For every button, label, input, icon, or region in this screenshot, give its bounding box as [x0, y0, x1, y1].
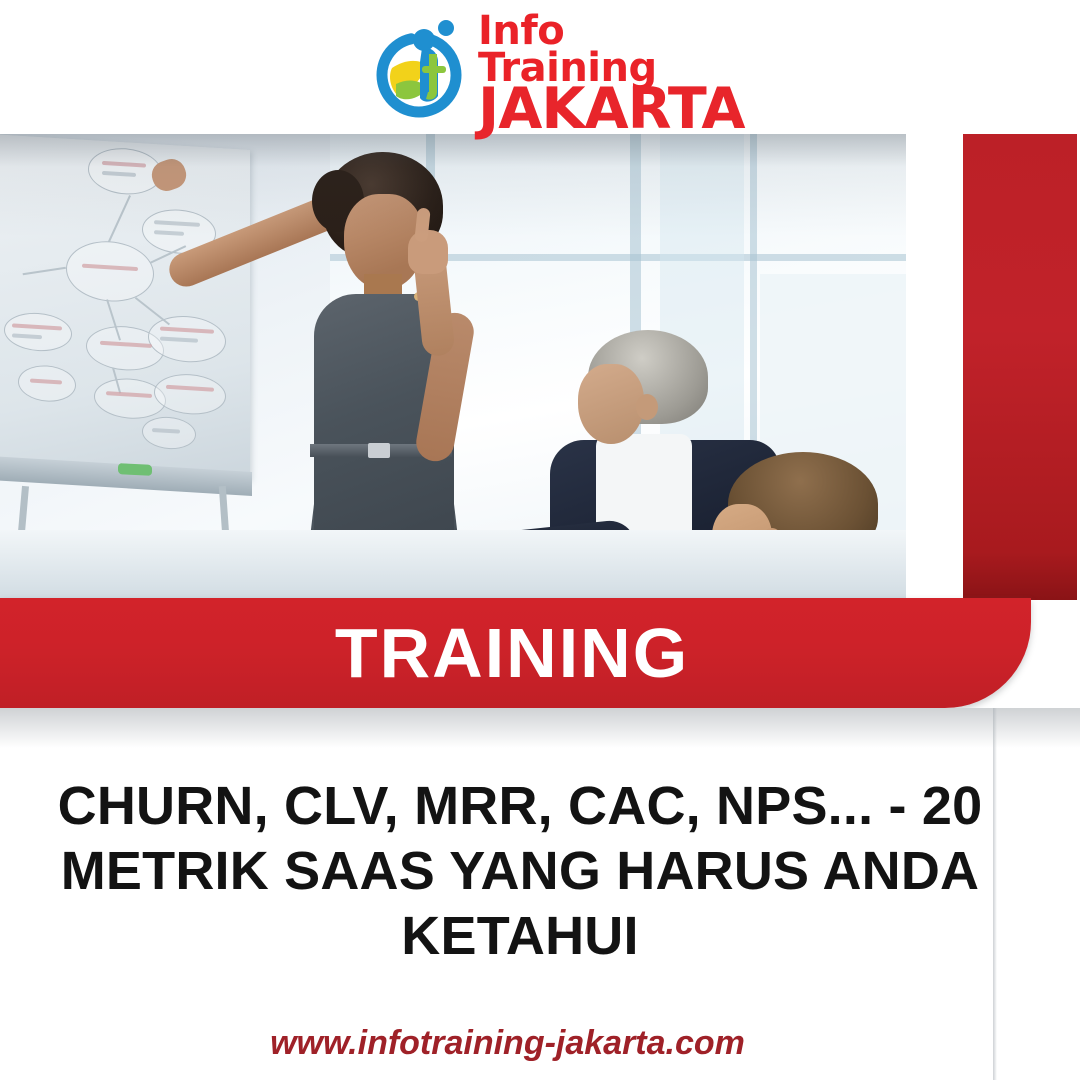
page-title-line-3: KETAHUI	[40, 904, 1000, 969]
training-poster: Info Training JAKARTA	[0, 0, 1080, 1080]
poster-header: Info Training JAKARTA	[0, 0, 1080, 134]
training-banner-label: TRAINING	[335, 618, 689, 688]
brand-logo-text: Info Training JAKARTA	[478, 13, 745, 135]
info-training-jakarta-logo-icon	[366, 18, 472, 130]
footer-top-shadow	[0, 708, 1080, 748]
brand-logo[interactable]: Info Training JAKARTA	[366, 16, 726, 132]
meeting-table	[0, 530, 906, 604]
page-title: CHURN, CLV, MRR, CAC, NPS... - 20 METRIK…	[40, 774, 1000, 968]
page-title-line-2: METRIK SAAS YANG HARUS ANDA	[40, 839, 1000, 904]
poster-footer: CHURN, CLV, MRR, CAC, NPS... - 20 METRIK…	[0, 708, 1080, 1080]
training-banner: TRAINING	[0, 598, 1031, 708]
page-title-line-1: CHURN, CLV, MRR, CAC, NPS... - 20	[40, 774, 1000, 839]
flipchart-board	[0, 134, 250, 480]
hero-photo	[0, 134, 906, 604]
website-url[interactable]: www.infotraining-jakarta.com	[0, 1024, 1015, 1063]
brand-name-line2: JAKARTA	[478, 83, 745, 135]
